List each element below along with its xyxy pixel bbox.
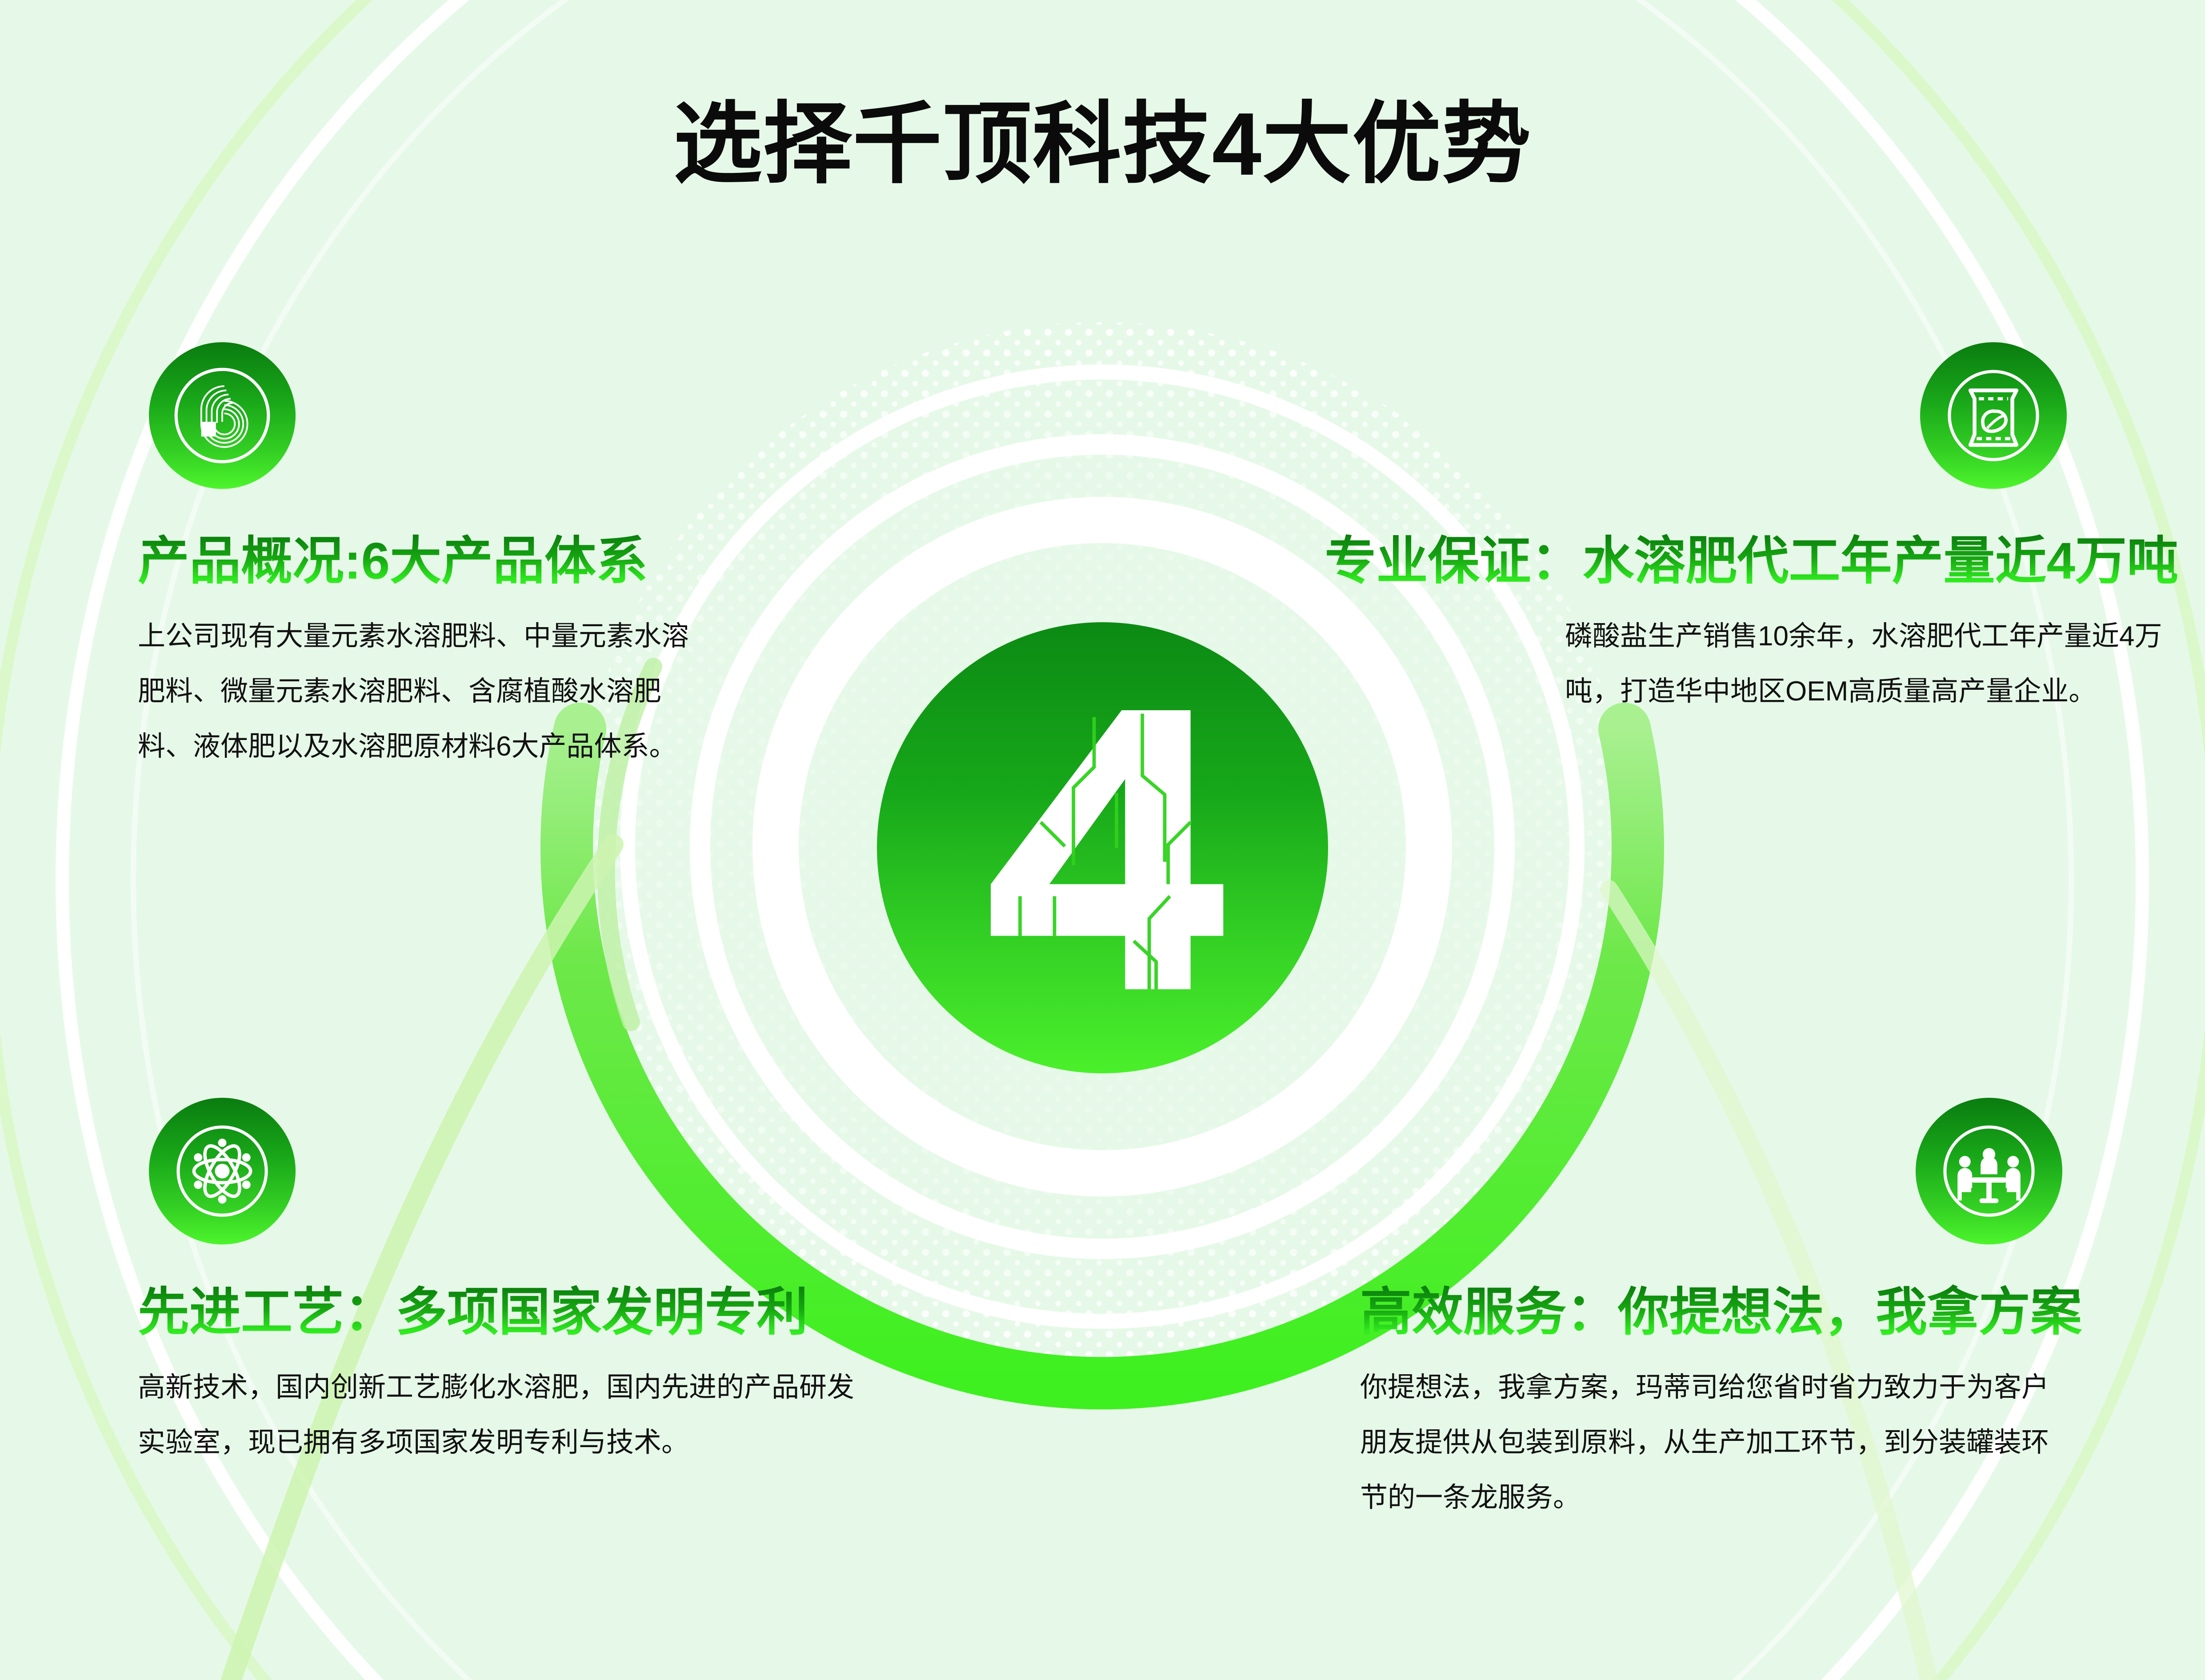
six-spiral-icon [149, 342, 296, 489]
feature-body: 你提想法，我拿方案，玛蒂司给您省时省力致力于为客户朋友提供从包装到原料，从生产加… [1360, 1360, 2071, 1525]
feature-body: 磷酸盐生产销售10余年，水溶肥代工年产量近4万吨，打造华中地区OEM高质量高产量… [1565, 609, 2178, 719]
poster-canvas: 选择千顶科技4大优势 [0, 0, 2205, 1680]
fertilizer-bag-icon [1920, 342, 2067, 489]
feature-heading: 先进工艺：多项国家发明专利 [138, 1284, 808, 1340]
center-number-badge [877, 622, 1328, 1073]
meeting-people-icon [1916, 1098, 2062, 1244]
feature-heading: 专业保证：水溶肥代工年产量近4万吨 [1325, 533, 2178, 589]
tech-four-icon [965, 692, 1241, 1004]
feature-body: 高新技术，国内创新工艺膨化水溶肥，国内先进的产品研发实验室，现已拥有多项国家发明… [138, 1360, 867, 1470]
feature-heading: 产品概况:6大产品体系 [138, 533, 648, 589]
atom-icon [149, 1098, 296, 1244]
feature-body: 上公司现有大量元素水溶肥料、中量元素水溶肥料、微量元素水溶肥料、含腐植酸水溶肥料… [138, 609, 693, 774]
page-title: 选择千顶科技4大优势 [0, 100, 2205, 189]
feature-heading: 高效服务：你提想法，我拿方案 [1360, 1284, 2082, 1340]
